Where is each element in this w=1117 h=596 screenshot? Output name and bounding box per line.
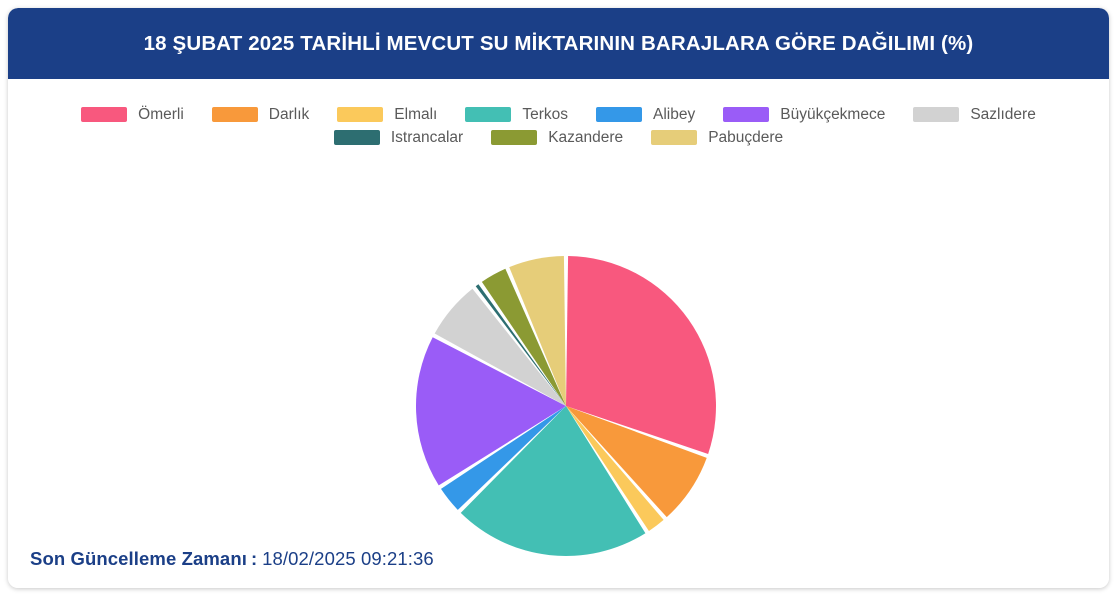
legend-item-label: Alibey (653, 107, 695, 123)
legend-item[interactable]: Istrancalar (334, 130, 463, 146)
legend-item-label: Istrancalar (391, 130, 463, 146)
pie-slice[interactable] (435, 289, 566, 406)
pie-slice[interactable] (566, 256, 716, 454)
legend-item[interactable]: Büyükçekmece (723, 107, 885, 123)
pie-chart (400, 240, 732, 572)
legend-swatch-icon (596, 107, 642, 122)
pie-slice[interactable] (461, 406, 646, 556)
legend-swatch-icon (81, 107, 127, 122)
legend-item[interactable]: Kazandere (491, 130, 623, 146)
pie-slice[interactable] (482, 269, 566, 406)
legend-item-label: Darlık (269, 107, 309, 123)
legend-swatch-icon (723, 107, 769, 122)
pie-chart-area (8, 79, 1109, 588)
legend-swatch-icon (465, 107, 511, 122)
legend-swatch-icon (491, 130, 537, 145)
legend-item-label: Kazandere (548, 130, 623, 146)
page-root: 18 ŞUBAT 2025 TARİHLİ MEVCUT SU MİKTARIN… (0, 0, 1117, 596)
legend-swatch-icon (334, 130, 380, 145)
pie-slice[interactable] (416, 337, 566, 485)
chart-card: 18 ŞUBAT 2025 TARİHLİ MEVCUT SU MİKTARIN… (8, 8, 1109, 588)
legend-item[interactable]: Elmalı (337, 107, 437, 123)
legend-swatch-icon (913, 107, 959, 122)
last-update-separator: : (251, 548, 257, 570)
legend-item-label: Sazlıdere (970, 107, 1035, 123)
card-body: ÖmerliDarlıkElmalıTerkosAlibeyBüyükçekme… (8, 79, 1109, 588)
legend-swatch-icon (337, 107, 383, 122)
legend-item-label: Elmalı (394, 107, 437, 123)
pie-slice[interactable] (566, 406, 664, 531)
page-title: 18 ŞUBAT 2025 TARİHLİ MEVCUT SU MİKTARIN… (144, 32, 974, 56)
last-update-label: Son Güncelleme Zamanı (30, 548, 247, 570)
last-update-footer: Son Güncelleme Zamanı : 18/02/2025 09:21… (30, 548, 434, 570)
legend-item-label: Ömerli (138, 107, 184, 123)
legend-item-label: Büyükçekmece (780, 107, 885, 123)
legend-item[interactable]: Alibey (596, 107, 695, 123)
legend-item[interactable]: Pabuçdere (651, 130, 783, 146)
pie-slice[interactable] (441, 406, 566, 510)
legend-swatch-icon (651, 130, 697, 145)
chart-legend: ÖmerliDarlıkElmalıTerkosAlibeyBüyükçekme… (8, 107, 1109, 145)
pie-slice[interactable] (566, 406, 707, 517)
pie-slice[interactable] (509, 256, 566, 406)
legend-item-label: Terkos (522, 107, 568, 123)
legend-swatch-icon (212, 107, 258, 122)
legend-item[interactable]: Terkos (465, 107, 568, 123)
legend-item[interactable]: Ömerli (81, 107, 184, 123)
pie-slice[interactable] (476, 284, 566, 406)
card-header: 18 ŞUBAT 2025 TARİHLİ MEVCUT SU MİKTARIN… (8, 8, 1109, 79)
legend-item-label: Pabuçdere (708, 130, 783, 146)
legend-item[interactable]: Darlık (212, 107, 309, 123)
legend-item[interactable]: Sazlıdere (913, 107, 1035, 123)
last-update-value: 18/02/2025 09:21:36 (262, 548, 434, 570)
